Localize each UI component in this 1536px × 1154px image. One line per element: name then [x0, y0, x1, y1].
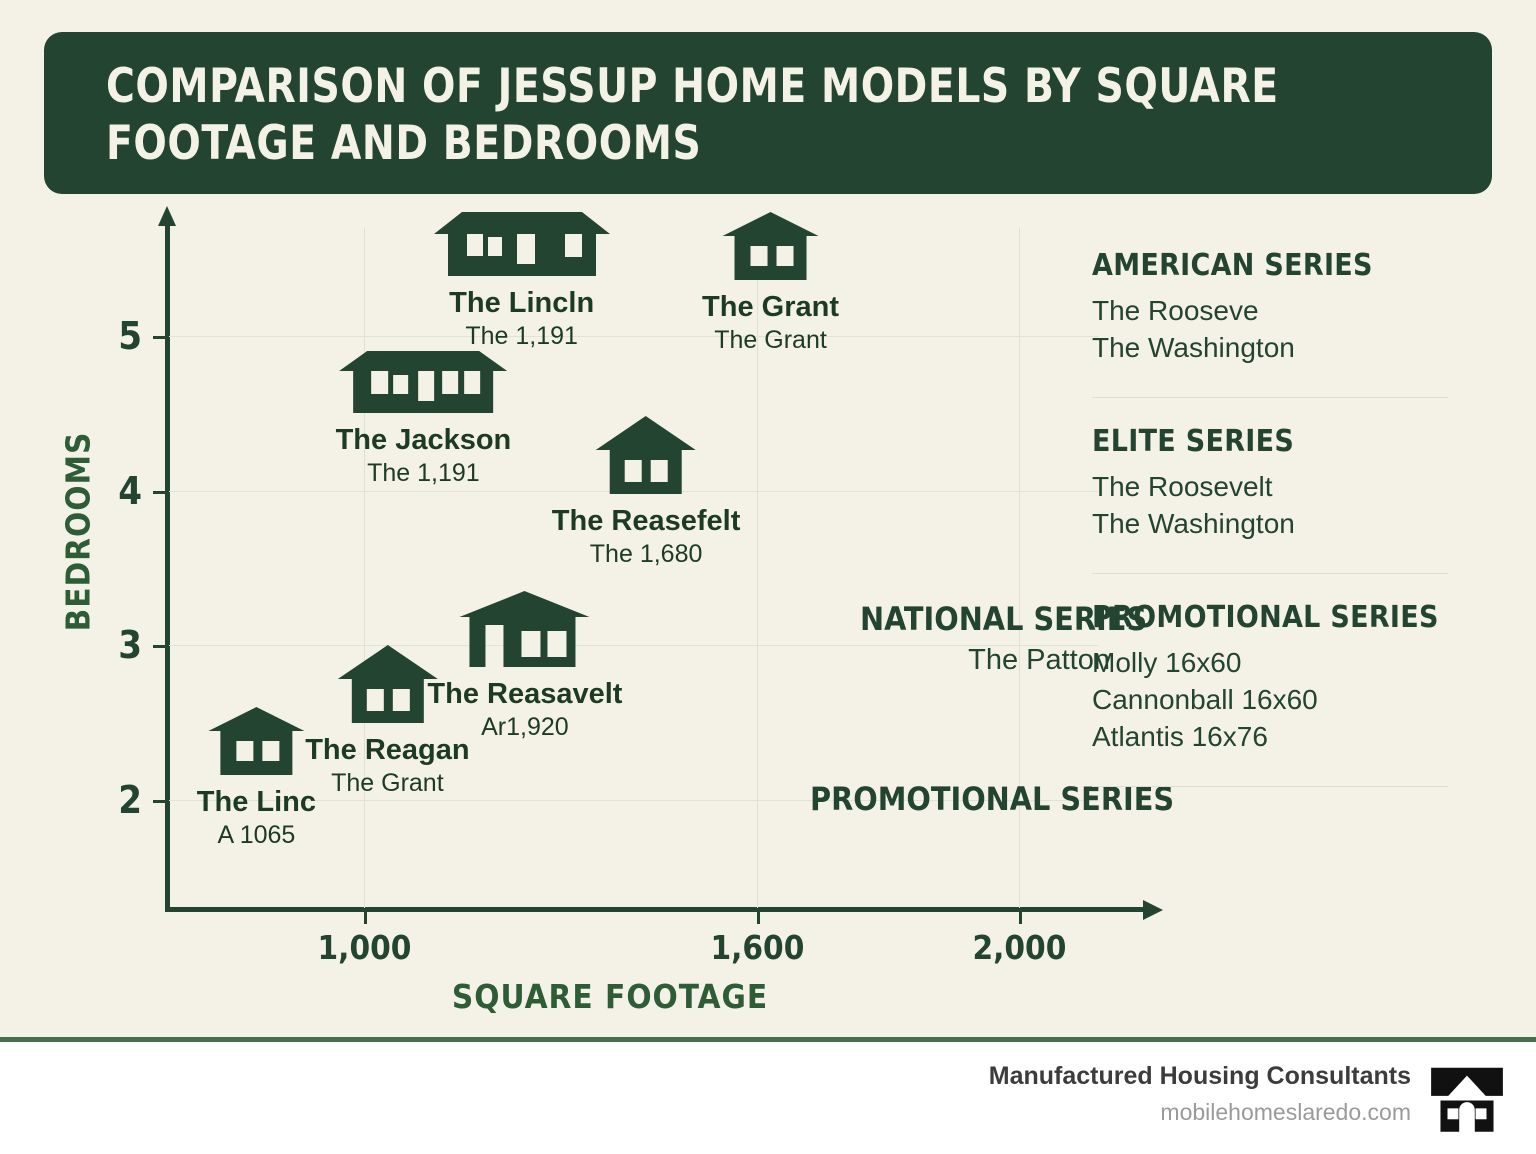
page-title: COMPARISON OF JESSUP HOME MODELS BY SQUA… — [106, 58, 1287, 173]
x-axis-label: SQUARE FOOTAGE — [360, 977, 860, 1016]
point-sublabel: A 1065 — [197, 821, 316, 850]
legend-title: ELITE SERIES — [1092, 424, 1472, 459]
point-label: The Jackson — [336, 424, 512, 457]
website-url[interactable]: mobilehomeslaredo.com — [989, 1099, 1411, 1126]
point-sublabel: The 1,191 — [432, 322, 612, 351]
company-name: Manufactured Housing Consultants — [989, 1062, 1411, 1091]
y-tick-label: 2 — [100, 778, 142, 822]
legend-item: The Roosevelt — [1092, 469, 1472, 506]
house-logo-icon — [1428, 1060, 1506, 1138]
y-tick — [153, 491, 169, 494]
point-sublabel: The Grant — [702, 326, 839, 355]
house-gable-2win — [197, 705, 316, 782]
legend-item: The Washington — [1092, 506, 1472, 543]
data-point-the-reasavelt: The ReasaveltAr1,920 — [427, 589, 622, 742]
house-wide-5win — [336, 349, 512, 420]
footer-text: Manufactured Housing Consultants mobileh… — [989, 1062, 1411, 1126]
data-point-the-grant: The GrantThe Grant — [702, 210, 839, 355]
gridline-vertical — [364, 228, 365, 908]
legend-block-american-series: AMERICAN SERIESThe RooseveThe Washington — [1092, 248, 1472, 367]
point-label: The Lincln — [432, 287, 612, 320]
legend-item: Cannonball 16x60 — [1092, 682, 1472, 719]
legend-title: AMERICAN SERIES — [1092, 248, 1472, 283]
x-tick-label: 1,000 — [318, 928, 412, 967]
y-tick — [153, 336, 169, 339]
y-axis-label: BEDROOMS — [58, 432, 97, 632]
infographic-page: COMPARISON OF JESSUP HOME MODELS BY SQUA… — [0, 0, 1536, 1154]
data-point-the-jackson: The JacksonThe 1,191 — [336, 349, 512, 488]
gridline-horizontal — [168, 336, 1098, 337]
data-point-the-linc: The LincA 1065 — [197, 705, 316, 850]
x-tick-label: 1,600 — [710, 928, 804, 967]
legend-item: Molly 16x60 — [1092, 645, 1472, 682]
legend-divider — [1092, 397, 1448, 398]
legend-title: PROMOTIONAL SERIES — [1092, 600, 1472, 635]
legend-item: Atlantis 16x76 — [1092, 719, 1472, 756]
x-tick-label: 2,000 — [972, 928, 1066, 967]
point-label: The Reasavelt — [427, 678, 622, 711]
point-label: The Linc — [197, 786, 316, 819]
y-tick-label: 3 — [100, 623, 142, 667]
footer: Manufactured Housing Consultants mobileh… — [0, 1042, 1536, 1154]
annotation-item: The Patton — [860, 644, 1110, 677]
point-label: The Grant — [702, 291, 839, 324]
y-tick — [153, 645, 169, 648]
legend-block-elite-series: ELITE SERIESThe RooseveltThe Washington — [1092, 424, 1472, 543]
x-axis-arrow-icon — [1143, 900, 1163, 920]
legend-divider — [1092, 573, 1448, 574]
chart-area: BEDROOMS SQUARE FOOTAGE 23451,0001,6002,… — [60, 212, 1120, 1012]
annotation-title: PROMOTIONAL SERIES — [810, 782, 1110, 818]
annotation-promotional-series: PROMOTIONAL SERIES — [810, 782, 1110, 818]
house-steep-2win — [552, 414, 741, 501]
title-banner: COMPARISON OF JESSUP HOME MODELS BY SQUA… — [44, 32, 1492, 194]
house-porch-2win — [427, 589, 622, 674]
annotation-title: NATIONAL SERIES — [860, 602, 1110, 638]
house-wide-4win — [432, 210, 612, 283]
data-point-the-reasefelt: The ReasefeltThe 1,680 — [552, 414, 741, 569]
data-point-the-lincln: The LinclnThe 1,191 — [432, 210, 612, 351]
x-tick — [757, 908, 760, 924]
x-tick — [364, 908, 367, 924]
y-axis-arrow-icon — [158, 206, 176, 226]
point-sublabel: The 1,191 — [336, 459, 512, 488]
legend-item: The Washington — [1092, 330, 1472, 367]
house-gable-2win — [702, 210, 839, 287]
legend-block-promotional-series: PROMOTIONAL SERIESMolly 16x60Cannonball … — [1092, 600, 1472, 756]
point-sublabel: The 1,680 — [552, 540, 741, 569]
legend-item: The Rooseve — [1092, 293, 1472, 330]
y-tick — [153, 800, 169, 803]
y-tick-label: 5 — [100, 314, 142, 358]
x-tick — [1019, 908, 1022, 924]
point-label: The Reasefelt — [552, 505, 741, 538]
point-sublabel: Ar1,920 — [427, 713, 622, 742]
legend-divider — [1092, 786, 1448, 787]
point-sublabel: The Grant — [305, 769, 469, 798]
series-legend: AMERICAN SERIESThe RooseveThe Washington… — [1092, 248, 1472, 813]
annotation-national-series: NATIONAL SERIES The Patton — [860, 602, 1110, 677]
y-tick-label: 4 — [100, 469, 142, 513]
